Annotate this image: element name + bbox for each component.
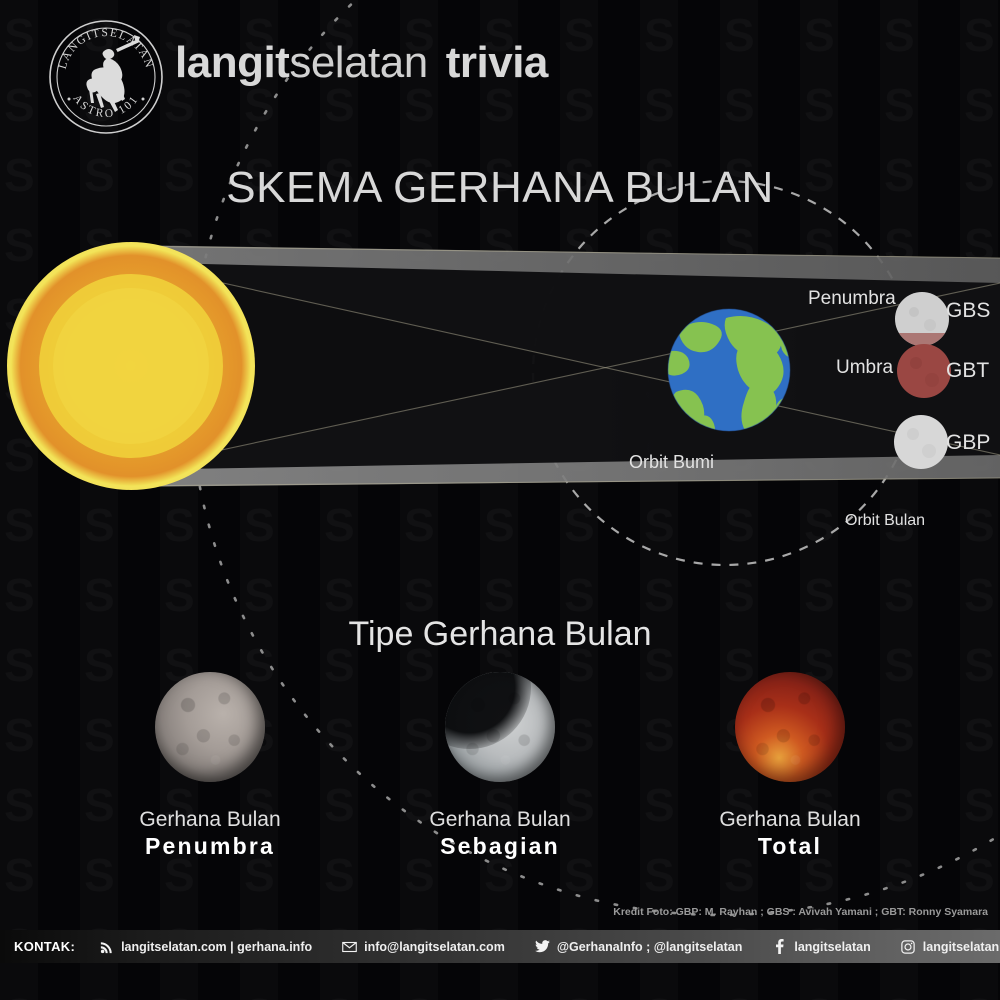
contact-footer: KONTAK: langitselatan.com | gerhana.info… bbox=[0, 930, 1000, 963]
label-penumbra: Penumbra bbox=[808, 288, 896, 310]
type-label-line1: Gerhana Bulan bbox=[645, 808, 935, 832]
footer-item-instagram[interactable]: langitselatanmedia bbox=[901, 939, 1000, 954]
moon-gbp bbox=[894, 415, 948, 469]
footer-item-website[interactable]: langitselatan.com | gerhana.info bbox=[99, 939, 312, 954]
footer-item-text: @GerhanaInfo ; @langitselatan bbox=[557, 940, 743, 954]
label-gbt: GBT bbox=[946, 359, 989, 383]
caption: Gerhana Bulan Sebagian bbox=[355, 808, 645, 860]
sun bbox=[7, 242, 255, 490]
eclipse-type-total: Gerhana Bulan Total bbox=[645, 672, 935, 872]
types-section-title: Tipe Gerhana Bulan bbox=[0, 615, 1000, 654]
facebook-icon bbox=[772, 939, 787, 954]
header: LANGITSELATAN ASTRO 101 langi bbox=[0, 0, 1000, 150]
eclipse-type-penumbra: Gerhana Bulan Penumbra bbox=[65, 672, 355, 872]
langitselatan-logo-icon: LANGITSELATAN ASTRO 101 bbox=[46, 17, 166, 137]
footer-item-text: langitselatan.com | gerhana.info bbox=[121, 940, 312, 954]
caption: Gerhana Bulan Penumbra bbox=[65, 808, 355, 860]
footer-item-text: langitselatan bbox=[794, 940, 870, 954]
infographic-root: SSSSSSSSSSSSSSSSSSSSSSSSSSSSSSSSSSSSSSSS… bbox=[0, 0, 1000, 1000]
kontak-label: KONTAK: bbox=[14, 939, 75, 954]
eclipse-types-row: Gerhana Bulan Penumbra Gerhana Bulan Seb… bbox=[0, 672, 1000, 872]
brand-selatan: selatan bbox=[289, 38, 427, 87]
page-title: SKEMA GERHANA BULAN bbox=[0, 163, 1000, 213]
instagram-icon bbox=[901, 939, 916, 954]
footer-item-twitter[interactable]: @GerhanaInfo ; @langitselatan bbox=[535, 939, 743, 954]
brand-trivia: trivia bbox=[446, 38, 548, 87]
moon-craters-overlay bbox=[155, 672, 265, 782]
moon-gbt bbox=[897, 344, 951, 398]
footer-item-text: langitselatanmedia bbox=[923, 940, 1000, 954]
twitter-icon bbox=[535, 939, 550, 954]
label-gbp: GBP bbox=[946, 431, 990, 455]
brand-wordmark: langitselatantrivia bbox=[175, 38, 548, 88]
label-umbra: Umbra bbox=[836, 357, 893, 379]
label-gbs: GBS bbox=[946, 299, 990, 323]
type-label-line2: Total bbox=[645, 832, 935, 861]
moon-craters-overlay bbox=[735, 672, 845, 782]
footer-item-text: info@langitselatan.com bbox=[364, 940, 505, 954]
moon-photo-partial bbox=[445, 672, 555, 782]
type-label-line1: Gerhana Bulan bbox=[355, 808, 645, 832]
label-orbit-bulan: Orbit Bulan bbox=[845, 512, 925, 530]
moon-craters-overlay bbox=[445, 672, 555, 782]
footer-item-facebook[interactable]: langitselatan bbox=[772, 939, 870, 954]
moon-photo-penumbral bbox=[155, 672, 265, 782]
label-orbit-bumi: Orbit Bumi bbox=[629, 452, 714, 473]
photo-credit: Kredit Foto: GBP: M. Rayhan ; GBS : Aviv… bbox=[613, 906, 988, 918]
brand-langit: langit bbox=[175, 38, 289, 87]
footer-item-email[interactable]: info@langitselatan.com bbox=[342, 939, 505, 954]
eclipse-type-sebagian: Gerhana Bulan Sebagian bbox=[355, 672, 645, 872]
type-label-line1: Gerhana Bulan bbox=[65, 808, 355, 832]
type-label-line2: Sebagian bbox=[355, 832, 645, 861]
rss-icon bbox=[99, 939, 114, 954]
moon-photo-total bbox=[735, 672, 845, 782]
caption: Gerhana Bulan Total bbox=[645, 808, 935, 860]
envelope-icon bbox=[342, 939, 357, 954]
type-label-line2: Penumbra bbox=[65, 832, 355, 861]
